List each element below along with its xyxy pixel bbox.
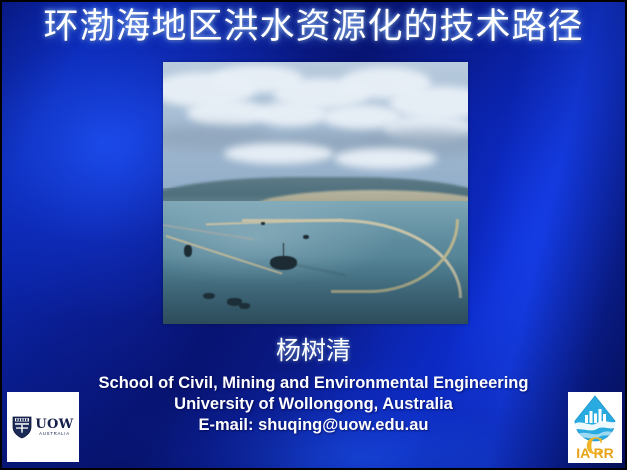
presentation-slide: 环渤海地区洪水资源化的技术路径 bbox=[0, 0, 627, 470]
affiliation-university: University of Wollongong, Australia bbox=[0, 394, 627, 414]
slide-photo bbox=[163, 62, 468, 324]
shield-crest-icon bbox=[12, 415, 32, 439]
uow-wordmark: UOW AUSTRALIA bbox=[35, 418, 73, 436]
cloud-shape bbox=[224, 143, 334, 164]
uow-logo-box: UOW AUSTRALIA bbox=[7, 392, 79, 462]
affiliation-school: School of Civil, Mining and Environmenta… bbox=[0, 373, 627, 393]
iacrr-logo-box: IA RR C bbox=[568, 392, 622, 463]
uow-main-text: UOW bbox=[35, 418, 73, 431]
contact-email: E-mail: shuqing@uow.edu.au bbox=[0, 415, 627, 435]
photo-bottom-shading bbox=[163, 256, 468, 324]
uow-sub-text: AUSTRALIA bbox=[39, 432, 70, 436]
iacrr-center-letter: C bbox=[586, 436, 604, 458]
uow-logo: UOW AUSTRALIA bbox=[12, 415, 73, 439]
author-name: 杨树清 bbox=[0, 336, 627, 366]
slide-title: 环渤海地区洪水资源化的技术路径 bbox=[0, 6, 627, 48]
